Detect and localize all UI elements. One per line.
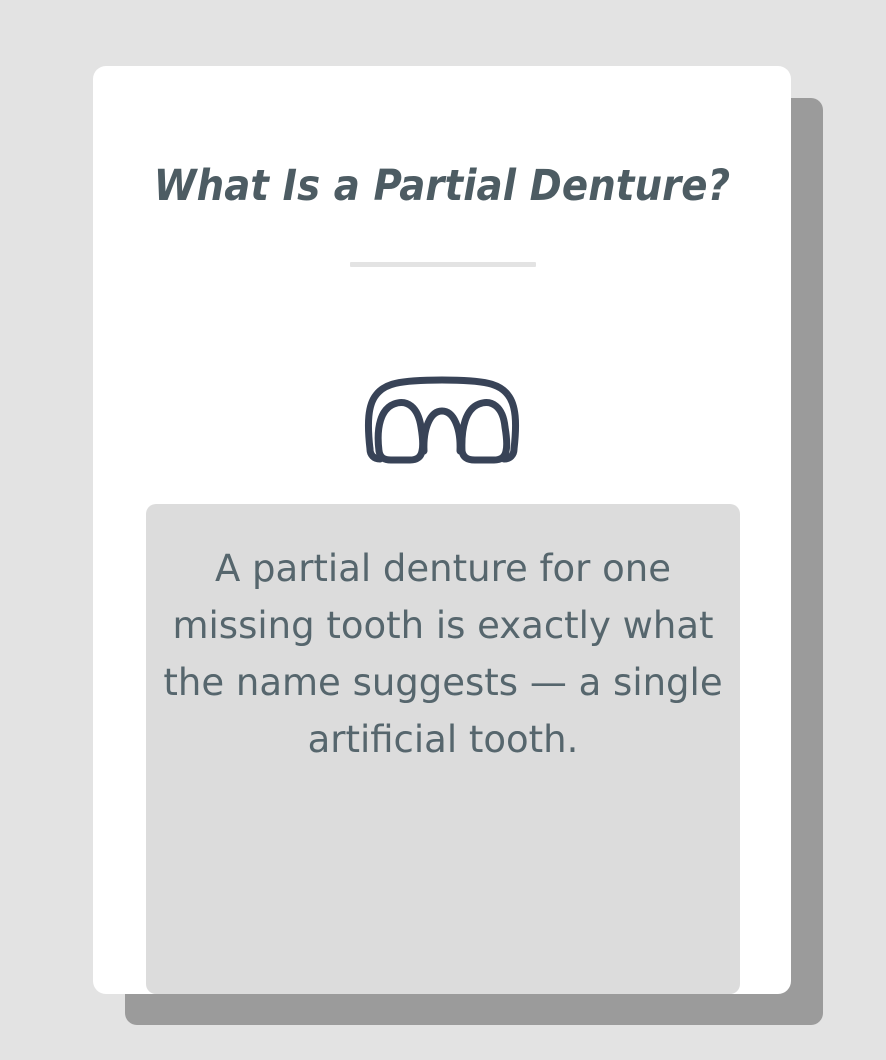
- slide-canvas: What Is a Partial Denture? A partial den…: [0, 0, 886, 1060]
- partial-denture-icon: [93, 366, 791, 471]
- title-divider: [350, 262, 536, 267]
- page-title: What Is a Partial Denture?: [93, 161, 791, 211]
- content-card: What Is a Partial Denture? A partial den…: [93, 66, 791, 994]
- info-box: A partial denture for one missing tooth …: [146, 504, 740, 994]
- info-box-text: A partial denture for one missing tooth …: [146, 540, 740, 768]
- partial-denture-icon-glyph: [362, 371, 522, 466]
